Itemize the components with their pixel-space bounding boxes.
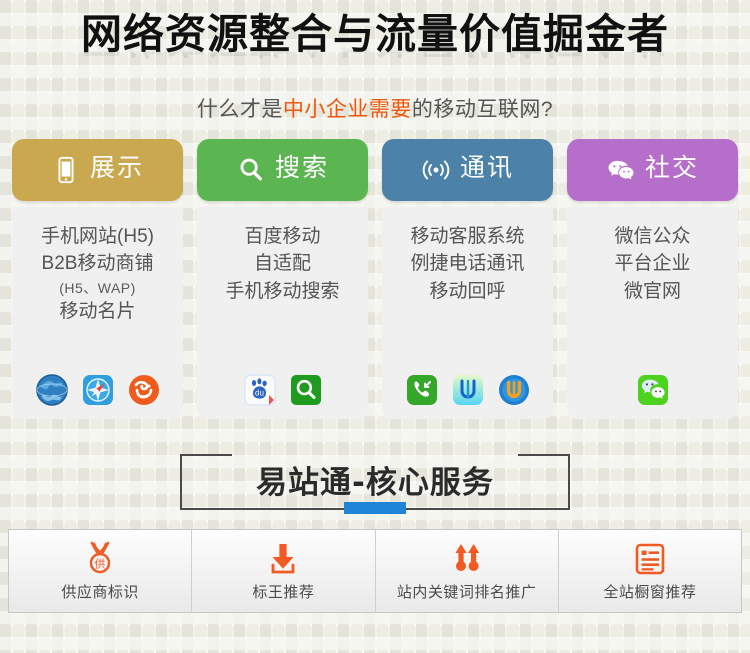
service-card-display: 展示 手机网站(H5) B2B移动商铺 (H5、WAP) 移动名片 bbox=[12, 139, 183, 419]
search-magnifier-icon bbox=[236, 155, 266, 185]
card-header-label: 社交 bbox=[645, 156, 699, 183]
card-header-search[interactable]: 搜索 bbox=[197, 139, 368, 201]
card-header-display[interactable]: 展示 bbox=[12, 139, 183, 201]
card-header-label: 搜索 bbox=[275, 156, 329, 183]
mobile-phone-icon bbox=[51, 155, 81, 185]
card-line: 百度移动 bbox=[244, 223, 320, 251]
subtitle-text-before: 什么才是 bbox=[197, 98, 283, 121]
feature-bar: 供 供应商标识 标王推荐 bbox=[8, 529, 742, 613]
feature-item-label: 供应商标识 bbox=[61, 581, 139, 602]
feature-item-supplier-badge[interactable]: 供 供应商标识 bbox=[9, 530, 192, 612]
baidu-paw-icon[interactable]: du bbox=[243, 373, 277, 407]
frame-top-left-edge bbox=[180, 454, 232, 456]
page-subtitle: 什么才是中小企业需要的移动互联网? bbox=[0, 93, 750, 123]
section-title: 易站通-核心服务 bbox=[250, 457, 500, 502]
supplier-medal-icon: 供 bbox=[80, 539, 120, 579]
card-body-search: 百度移动 自适配 手机移动搜索 du bbox=[197, 207, 368, 419]
safari-compass-icon[interactable] bbox=[81, 373, 115, 407]
card-line: B2B移动商铺 bbox=[42, 250, 154, 278]
phone-callback-icon[interactable] bbox=[405, 373, 439, 407]
service-card-search: 搜索 百度移动 自适配 手机移动搜索 bbox=[197, 139, 368, 419]
card-header-label: 通讯 bbox=[460, 156, 514, 183]
feature-item-showcase[interactable]: 全站橱窗推荐 bbox=[559, 530, 741, 612]
card-line: 微官网 bbox=[624, 278, 681, 306]
card-body-social: 微信公众 平台企业 微官网 bbox=[567, 207, 738, 419]
bracket-frame: 易站通-核心服务 bbox=[180, 454, 570, 510]
subtitle-text-after: 的移动互联网? bbox=[412, 98, 553, 121]
wechat-app-icon[interactable] bbox=[636, 373, 670, 407]
frame-left-edge bbox=[180, 454, 182, 510]
card-body-display: 手机网站(H5) B2B移动商铺 (H5、WAP) 移动名片 bbox=[12, 207, 183, 419]
service-card-social: 社交 微信公众 平台企业 微官网 bbox=[567, 139, 738, 419]
accent-bar bbox=[344, 502, 406, 514]
feature-item-label: 站内关键词排名推广 bbox=[397, 581, 537, 602]
card-brand-icon-row bbox=[35, 357, 161, 407]
card-line: 例捷电话通讯 bbox=[410, 250, 524, 278]
promo-page: 网络资源整合与流量价值掘金者 网络资源整合与流量价值掘金者 什么才是中小企业需要… bbox=[0, 0, 750, 653]
svg-text:供: 供 bbox=[95, 557, 106, 571]
card-header-communication[interactable]: 通讯 bbox=[382, 139, 553, 201]
card-line: 微信公众 bbox=[614, 223, 690, 251]
feature-item-label: 标王推荐 bbox=[252, 581, 314, 602]
globe-browser-icon[interactable] bbox=[35, 373, 69, 407]
broadcast-signal-icon bbox=[421, 155, 451, 185]
feature-item-keyword-ranking[interactable]: 站内关键词排名推广 bbox=[376, 530, 559, 612]
youni-app-icon[interactable] bbox=[451, 373, 485, 407]
frame-right-edge bbox=[568, 454, 570, 510]
download-arrow-icon bbox=[263, 539, 303, 579]
headline-block: 网络资源整合与流量价值掘金者 网络资源整合与流量价值掘金者 什么才是中小企业需要… bbox=[0, 0, 750, 123]
card-line: 自适配 bbox=[254, 250, 311, 278]
feature-item-top-bid[interactable]: 标王推荐 bbox=[192, 530, 375, 612]
card-body-communication: 移动客服系统 例捷电话通讯 移动回呼 bbox=[382, 207, 553, 419]
card-line: 移动回呼 bbox=[429, 278, 505, 306]
uc-browser-icon[interactable] bbox=[127, 373, 161, 407]
green-search-icon[interactable] bbox=[289, 373, 323, 407]
card-brand-icon-row: du bbox=[243, 357, 323, 407]
card-line: 平台企业 bbox=[614, 250, 690, 278]
uc-circle-icon[interactable] bbox=[497, 373, 531, 407]
section-heading-block: 易站通-核心服务 bbox=[0, 445, 750, 519]
card-line: (H5、WAP) bbox=[59, 278, 136, 298]
subtitle-text-highlight: 中小企业需要 bbox=[283, 98, 412, 121]
showcase-list-icon bbox=[630, 539, 670, 579]
card-line: 移动客服系统 bbox=[410, 223, 524, 251]
service-card-communication: 通讯 移动客服系统 例捷电话通讯 移动回呼 bbox=[382, 139, 553, 419]
double-up-arrow-icon bbox=[447, 539, 487, 579]
service-card-row: 展示 手机网站(H5) B2B移动商铺 (H5、WAP) 移动名片 bbox=[0, 139, 750, 419]
card-line: 手机网站(H5) bbox=[41, 223, 154, 251]
feature-item-label: 全站橱窗推荐 bbox=[603, 581, 696, 602]
page-title-reflection: 网络资源整合与流量价值掘金者 bbox=[0, 37, 750, 59]
card-brand-icon-row bbox=[636, 357, 670, 407]
card-line: 手机移动搜索 bbox=[225, 278, 339, 306]
svg-text:du: du bbox=[255, 389, 264, 398]
wechat-bubbles-icon bbox=[606, 155, 636, 185]
card-header-label: 展示 bbox=[90, 156, 144, 183]
frame-top-right-edge bbox=[518, 454, 570, 456]
card-line: 移动名片 bbox=[59, 298, 135, 326]
card-brand-icon-row bbox=[405, 357, 531, 407]
card-header-social[interactable]: 社交 bbox=[567, 139, 738, 201]
